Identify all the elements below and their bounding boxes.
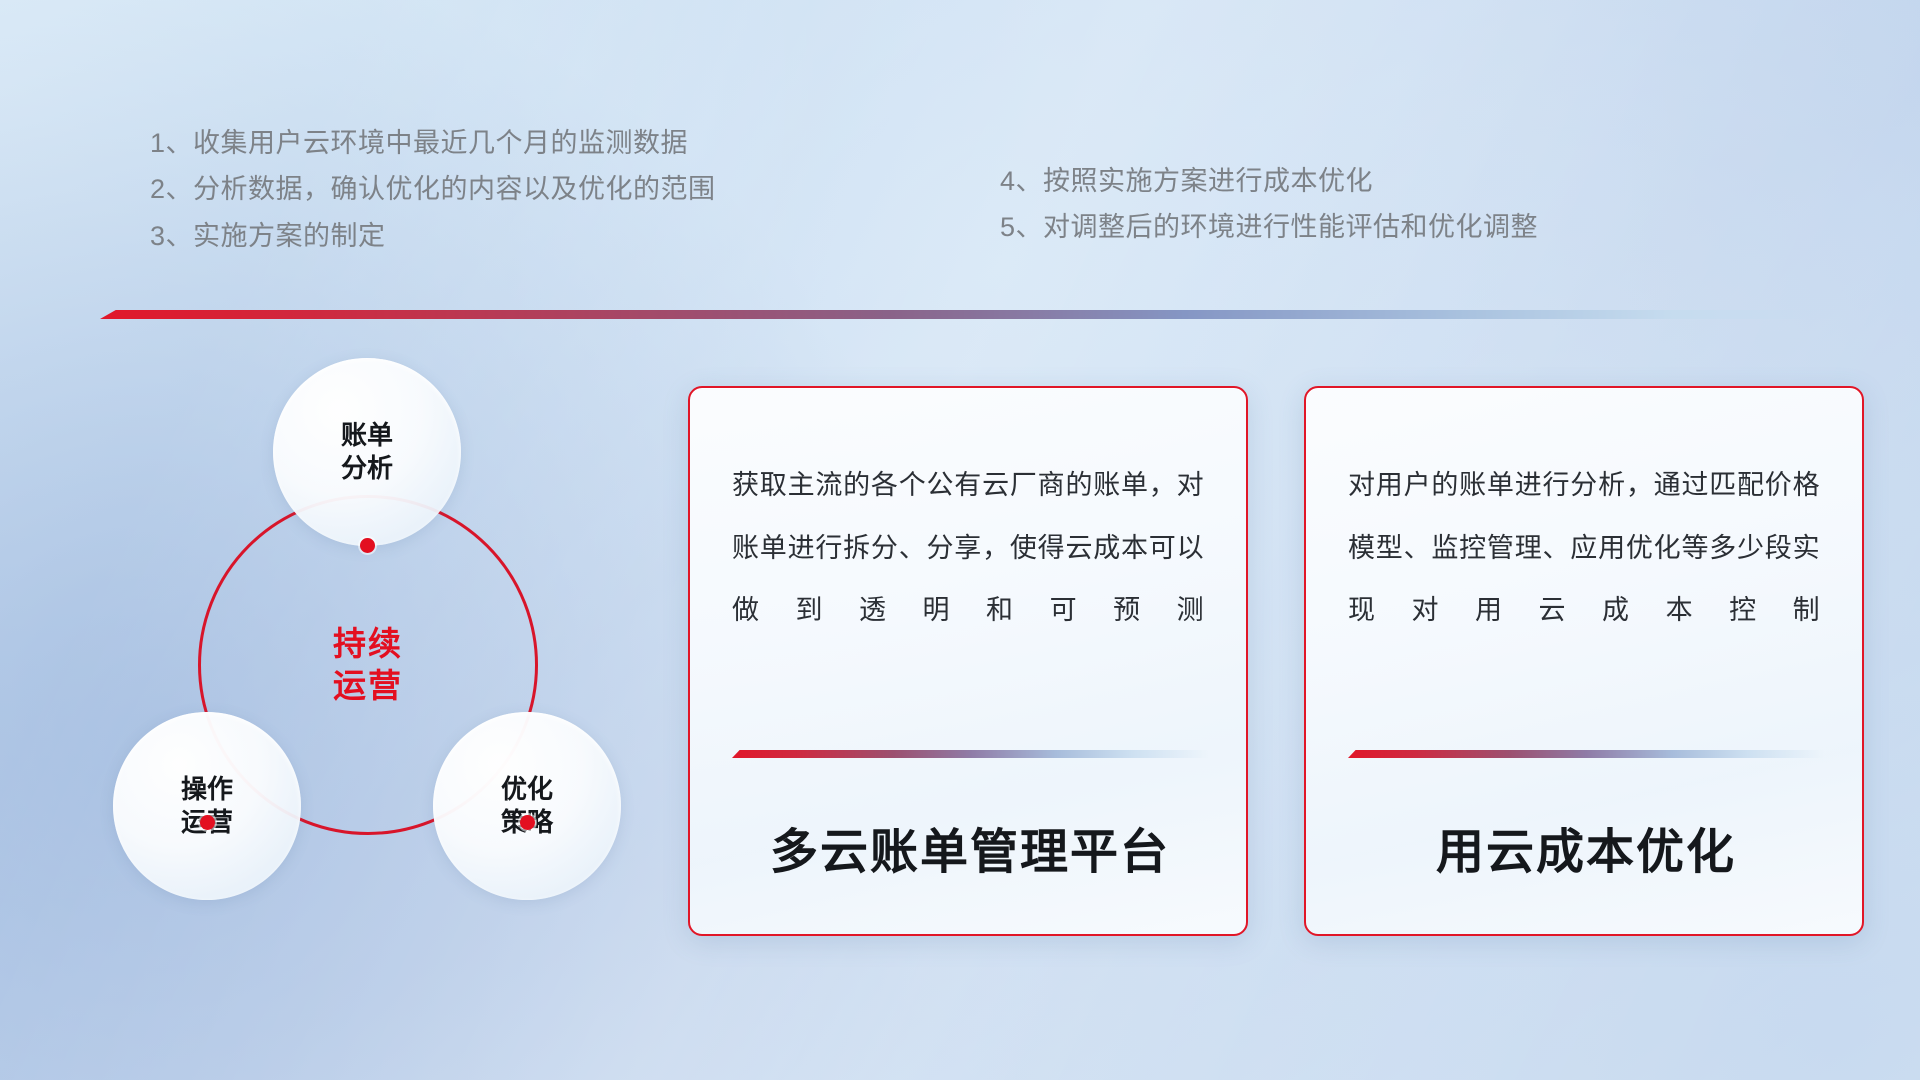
step-item-2: 2、分析数据，确认优化的内容以及优化的范围	[150, 166, 716, 212]
step-item-3: 3、实施方案的制定	[150, 213, 716, 259]
card-2-body-text: 对用户的账单进行分析，通过匹配价格模型、监控管理、应用优化等多少段实现对用云成本…	[1348, 454, 1820, 710]
node-right-line1: 优化	[501, 773, 553, 806]
steps-section: 1、收集用户云环境中最近几个月的监测数据 2、分析数据，确认优化的内容以及优化的…	[0, 0, 1920, 300]
step-item-4: 4、按照实施方案进行成本优化	[1000, 158, 1538, 204]
diagram-node-bill-analysis[interactable]: 账单 分析	[273, 358, 461, 546]
section-divider	[100, 310, 1850, 324]
step-item-1: 1、收集用户云环境中最近几个月的监测数据	[150, 120, 716, 166]
slide-canvas: 1、收集用户云环境中最近几个月的监测数据 2、分析数据，确认优化的内容以及优化的…	[0, 0, 1920, 1080]
steps-left-column: 1、收集用户云环境中最近几个月的监测数据 2、分析数据，确认优化的内容以及优化的…	[150, 120, 716, 259]
node-top-line2: 分析	[341, 452, 393, 485]
diagram-node-operations[interactable]: 操作 运营	[113, 712, 301, 900]
center-label-line1: 持续	[333, 623, 403, 665]
card-1-title: 多云账单管理平台	[732, 812, 1208, 882]
card-2-title: 用云成本优化	[1348, 812, 1824, 882]
feature-card-cost-optimization[interactable]: 对用户的账单进行分析，通过匹配价格模型、监控管理、应用优化等多少段实现对用云成本…	[1304, 386, 1864, 936]
node-left-line1: 操作	[181, 773, 233, 806]
center-label-line2: 运营	[333, 665, 403, 707]
feature-card-multicloud-billing[interactable]: 获取主流的各个公有云厂商的账单，对账单进行拆分、分享，使得云成本可以做到透明和可…	[688, 386, 1248, 936]
card-2-divider	[1348, 750, 1824, 758]
diagram-node-optimization-strategy[interactable]: 优化 策略	[433, 712, 621, 900]
diagram-dot-left-icon	[200, 815, 215, 830]
cycle-diagram: 持续 运营 账单 分析 操作 运营 优化 策略	[95, 340, 645, 960]
diagram-dot-right-icon	[520, 815, 535, 830]
divider-gradient-bar	[100, 310, 1850, 319]
diagram-dot-top-icon	[360, 538, 375, 553]
card-1-body-text: 获取主流的各个公有云厂商的账单，对账单进行拆分、分享，使得云成本可以做到透明和可…	[732, 454, 1204, 710]
steps-right-column: 4、按照实施方案进行成本优化 5、对调整后的环境进行性能评估和优化调整	[1000, 158, 1538, 251]
card-1-divider	[732, 750, 1208, 758]
node-top-line1: 账单	[341, 419, 393, 452]
step-item-5: 5、对调整后的环境进行性能评估和优化调整	[1000, 204, 1538, 250]
